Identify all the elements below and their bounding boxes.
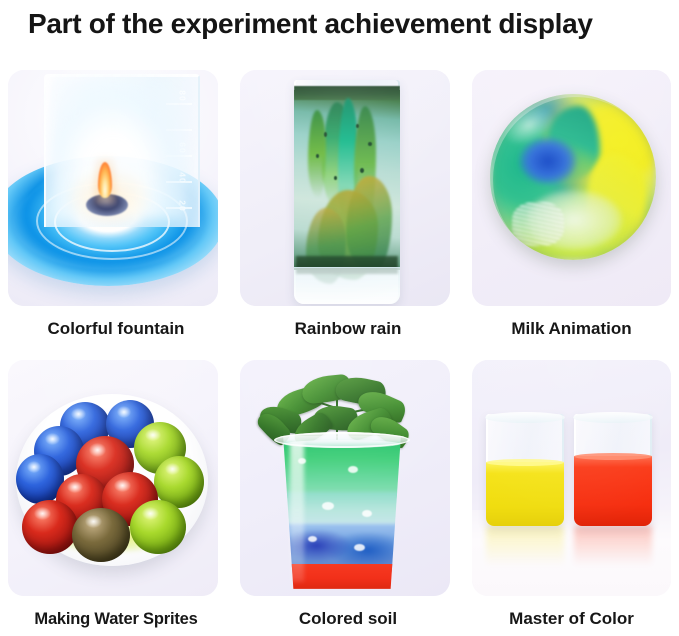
image-card-master-of-color[interactable] (472, 360, 671, 596)
gallery-cell-making-water-sprites[interactable]: Making Water Sprites (0, 352, 232, 634)
caption-rainbow-rain: Rainbow rain (232, 312, 464, 346)
scene-colorful-fountain: 80 60 40 20 (8, 70, 218, 306)
gallery-cell-colored-soil[interactable]: Colored soil (232, 352, 464, 634)
experiment-grid: 80 60 40 20 Colorful fountain (0, 62, 679, 634)
caption-milk-animation: Milk Animation (464, 312, 679, 346)
scene-making-water-sprites (8, 360, 218, 596)
page-title: Part of the experiment achievement displ… (28, 4, 658, 44)
water-bead (72, 508, 130, 562)
beaker-rim (573, 412, 653, 423)
caption-master-of-color: Master of Color (464, 602, 679, 636)
caption-colorful-fountain: Colorful fountain (0, 312, 232, 346)
gallery-cell-master-of-color[interactable]: Master of Color (464, 352, 679, 634)
image-card-colored-soil[interactable] (240, 360, 450, 596)
cup-highlight (290, 442, 304, 582)
red-liquid (574, 456, 652, 526)
water-bead (22, 500, 78, 554)
yellow-liquid (486, 462, 564, 526)
scene-colored-soil (240, 360, 450, 596)
scene-milk-animation (472, 70, 671, 306)
image-card-colorful-fountain[interactable]: 80 60 40 20 (8, 70, 218, 306)
gallery-cell-rainbow-rain[interactable]: Rainbow rain (232, 62, 464, 352)
scene-rainbow-rain (240, 70, 450, 306)
image-card-rainbow-rain[interactable] (240, 70, 450, 306)
image-card-milk-animation[interactable] (472, 70, 671, 306)
tall-glass (294, 80, 400, 304)
image-card-making-water-sprites[interactable] (8, 360, 218, 596)
gallery-cell-milk-animation[interactable]: Milk Animation (464, 62, 679, 352)
beaker-reflection (574, 526, 652, 566)
beaker-red (574, 414, 652, 526)
beaker-yellow (486, 414, 564, 526)
glass-base (294, 267, 400, 304)
caption-colored-soil: Colored soil (232, 602, 464, 636)
beaker-rim (485, 412, 565, 423)
gallery-cell-colorful-fountain[interactable]: 80 60 40 20 Colorful fountain (0, 62, 232, 352)
beaker-reflection (486, 526, 564, 566)
experiment-gallery: Part of the experiment achievement displ… (0, 0, 679, 634)
water-bead (130, 500, 186, 554)
scene-master-of-color (472, 360, 671, 596)
caption-making-water-sprites: Making Water Sprites (0, 602, 232, 636)
milk-dish (490, 94, 656, 260)
